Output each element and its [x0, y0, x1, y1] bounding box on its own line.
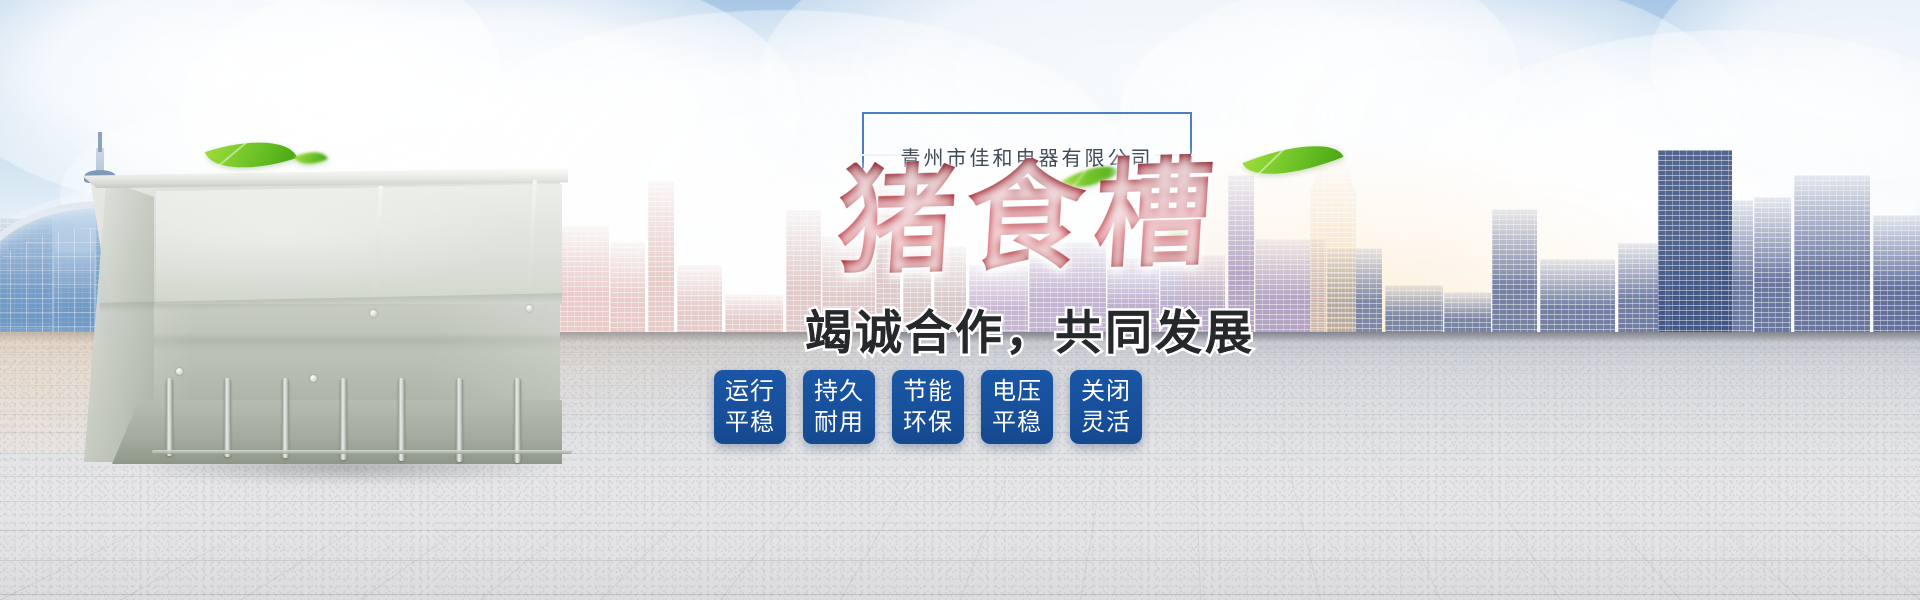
badge-line-1: 关闭 [1081, 376, 1131, 407]
trough-inner-wall [156, 184, 562, 304]
badge-line-2: 灵活 [1081, 407, 1131, 438]
badge-line-2: 平稳 [725, 407, 775, 438]
divider-bar [166, 378, 173, 456]
banner-text-block: 青州市佳和电器有限公司 猪食槽 竭诚合作，共同发展 竭诚合作，共同发展 运行平稳… [700, 96, 1360, 516]
badge-line-1: 运行 [725, 376, 775, 407]
divider-bar [282, 378, 289, 458]
feature-badge-3[interactable]: 节能环保 [892, 370, 964, 444]
divider-bar [398, 378, 405, 461]
trough-bolt [526, 305, 533, 312]
trough-railing [152, 450, 572, 454]
trough-bolt [176, 368, 183, 375]
divider-bar [224, 378, 231, 457]
trough-bolt [370, 310, 377, 317]
subtitle-slogan: 竭诚合作，共同发展 竭诚合作，共同发展 [700, 294, 1360, 363]
feature-badge-4[interactable]: 电压平稳 [981, 370, 1053, 444]
badge-line-2: 耐用 [814, 407, 864, 438]
badge-line-1: 节能 [903, 376, 953, 407]
feature-badge-1[interactable]: 运行平稳 [714, 370, 786, 444]
headline-wrapper: 猪食槽 [700, 158, 1360, 294]
badge-line-2: 平稳 [992, 407, 1042, 438]
badge-line-1: 持久 [814, 376, 864, 407]
divider-bar [340, 378, 347, 460]
product-image-pig-trough [60, 150, 580, 480]
feature-badge-5[interactable]: 关闭灵活 [1070, 370, 1142, 444]
subtitle-fill-layer: 竭诚合作，共同发展 [700, 294, 1360, 363]
feature-badge-2[interactable]: 持久耐用 [803, 370, 875, 444]
page-title: 猪食槽 [834, 153, 1226, 281]
promo-banner: 青州市佳和电器有限公司 猪食槽 竭诚合作，共同发展 竭诚合作，共同发展 运行平稳… [0, 0, 1920, 600]
badge-line-1: 电压 [992, 376, 1042, 407]
feature-badge-list: 运行平稳持久耐用节能环保电压平稳关闭灵活 [714, 370, 1142, 444]
badge-line-2: 环保 [903, 407, 953, 438]
